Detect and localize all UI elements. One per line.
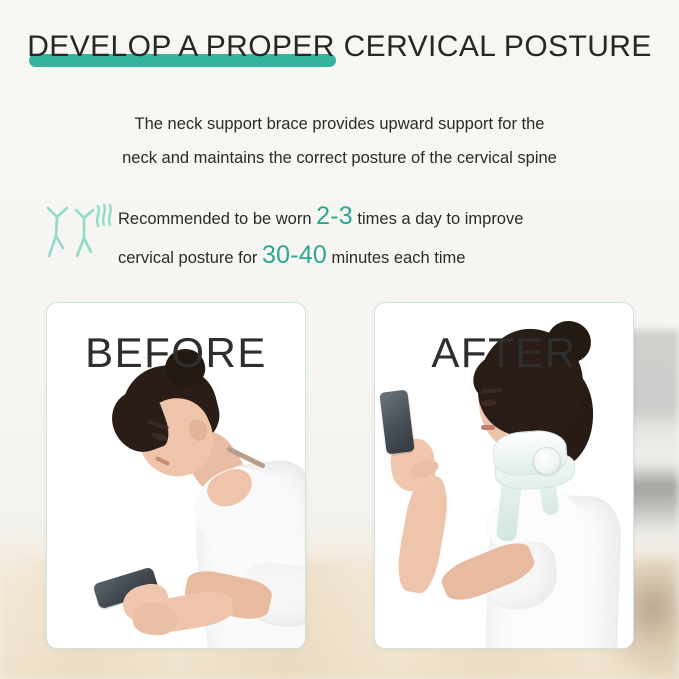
rec-line1-suffix: times a day to improve bbox=[353, 210, 524, 228]
after-card: AFTER bbox=[374, 302, 634, 649]
heading-container: DEVELOP A PROPER CERVICAL POSTURE bbox=[0, 30, 679, 64]
description-paragraph: The neck support brace provides upward s… bbox=[0, 107, 679, 175]
recommendation-frequency-value: 2-3 bbox=[316, 202, 353, 230]
title-highlighted-text: DEVELOP A PROPER bbox=[27, 30, 335, 63]
recommendation-duration-value: 30-40 bbox=[262, 241, 327, 269]
after-lips bbox=[481, 425, 495, 430]
after-phone bbox=[379, 390, 414, 455]
before-card: BEFORE bbox=[46, 302, 306, 649]
after-neck-brace-knob bbox=[533, 447, 561, 475]
description-line-2: neck and maintains the correct posture o… bbox=[0, 141, 679, 175]
rec-line2-prefix: cervical posture for bbox=[118, 249, 262, 267]
description-line-1: The neck support brace provides upward s… bbox=[0, 107, 679, 141]
before-label: BEFORE bbox=[47, 329, 305, 377]
recommendation-text: Recommended to be worn 2-3 times a day t… bbox=[118, 198, 658, 276]
recommendation-line-1: Recommended to be worn 2-3 times a day t… bbox=[118, 198, 658, 237]
title-rest-text: CERVICAL POSTURE bbox=[335, 30, 652, 63]
infographic-page: DEVELOP A PROPER CERVICAL POSTURE The ne… bbox=[0, 0, 679, 679]
rec-line2-suffix: minutes each time bbox=[327, 249, 465, 267]
rec-line1-prefix: Recommended to be worn bbox=[118, 210, 316, 228]
recommendation-line-2: cervical posture for 30-40 minutes each … bbox=[118, 237, 658, 276]
posture-figures-icon bbox=[44, 196, 116, 264]
after-label: AFTER bbox=[375, 329, 633, 377]
page-title: DEVELOP A PROPER CERVICAL POSTURE bbox=[27, 30, 652, 64]
